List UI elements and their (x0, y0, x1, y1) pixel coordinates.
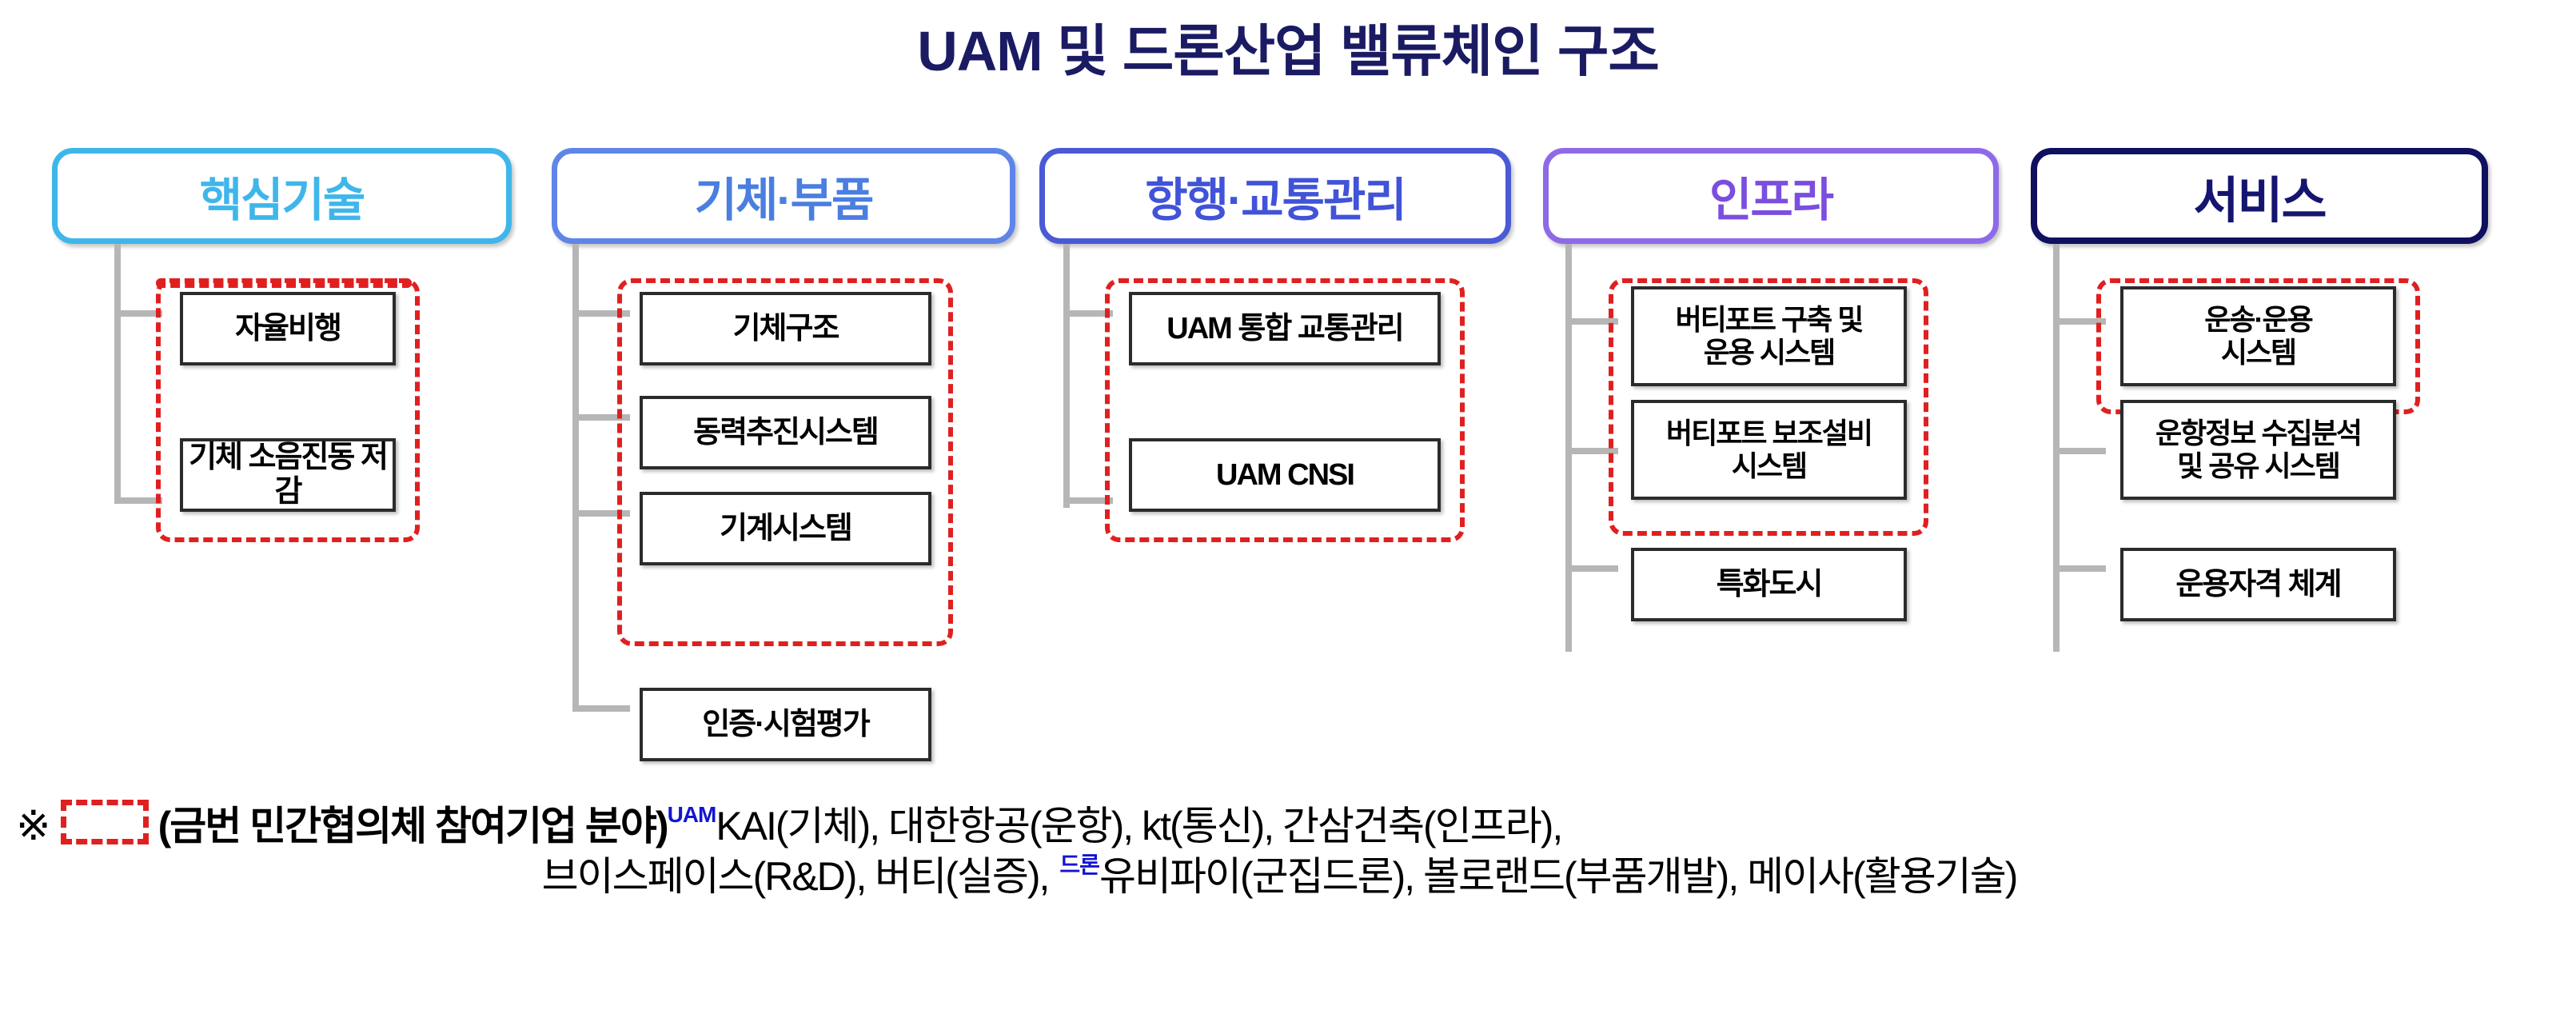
item-box[interactable]: 운송·운용 시스템 (2120, 286, 2396, 386)
footnote-line-2: 브이스페이스(R&D), 버티(실증),드론유비파이(군집드론), 볼로랜드(부… (16, 852, 2566, 901)
item-label: 버티포트 보조설비 시스템 (1666, 417, 1872, 482)
column-header-navigation-traffic-management[interactable]: 항행·교통관리 (1039, 148, 1511, 244)
page-title: UAM 및 드론산업 밸류체인 구조 (0, 6, 2576, 87)
tree-branch (1063, 497, 1113, 504)
tree-branch (1063, 310, 1113, 317)
superscript-uam: UAM (668, 802, 716, 827)
item-box[interactable]: 인증·시험평가 (640, 688, 931, 761)
tree-branch (114, 310, 162, 317)
item-box[interactable]: UAM CNSI (1129, 438, 1441, 512)
tree-branch (1565, 318, 1618, 325)
item-box[interactable]: 기계시스템 (640, 492, 931, 565)
item-label: 기체 소음진동 저감 (188, 441, 388, 509)
item-box[interactable]: 버티포트 구축 및 운용 시스템 (1631, 286, 1907, 386)
footnote: ※(금번 민간협의체 참여기업 분야)UAMKAI(기체), 대한항공(운항),… (16, 800, 2566, 901)
item-label: 특화도시 (1717, 568, 1822, 602)
tree-branch (572, 414, 630, 421)
footnote-line-1-text: KAI(기체), 대한항공(운항), kt(통신), 간삼건축(인프라), (716, 804, 1561, 848)
item-label: UAM CNSI (1216, 458, 1354, 493)
footnote-line-2-prefix: 브이스페이스(R&D), 버티(실증), (542, 854, 1049, 899)
column-header-service[interactable]: 서비스 (2031, 148, 2488, 244)
item-label: 동력추진시스템 (693, 416, 878, 450)
tree-branch (114, 497, 162, 504)
footnote-line-2-text: 유비파이(군집드론), 볼로랜드(부품개발), 메이사(활용기술) (1099, 854, 2016, 899)
tree-branch (572, 310, 630, 317)
column-header-infrastructure[interactable]: 인프라 (1543, 148, 1999, 244)
legend-caption: (금번 민간협의체 참여기업 분야) (158, 804, 668, 848)
item-box[interactable]: 기체구조 (640, 292, 931, 365)
tree-branch (2053, 448, 2106, 454)
tree-trunk (114, 244, 121, 504)
column-header-label: 핵심기술 (200, 162, 364, 230)
column-header-label: 인프라 (1709, 162, 1832, 230)
column-header-airframe-parts[interactable]: 기체·부품 (552, 148, 1015, 244)
item-label: 운송·운용 시스템 (2204, 304, 2311, 369)
column-header-label: 항행·교통관리 (1145, 162, 1405, 230)
item-label: 운용자격 체계 (2175, 568, 2340, 602)
item-box[interactable]: 특화도시 (1631, 548, 1907, 621)
tree-branch (1565, 565, 1618, 572)
item-label: 자율비행 (235, 312, 341, 346)
item-box[interactable]: 운용자격 체계 (2120, 548, 2396, 621)
item-box[interactable]: 운항정보 수집분석 및 공유 시스템 (2120, 400, 2396, 500)
column-header-label: 기체·부품 (695, 162, 873, 230)
item-label: 인증·시험평가 (702, 708, 868, 742)
tree-branch (2053, 565, 2106, 572)
tree-trunk (1063, 244, 1070, 508)
superscript-drone: 드론 (1059, 852, 1099, 877)
value-chain-diagram: 핵심기술 자율비행 기체 소음진동 저감 기체·부품 기체구조 동력추진시스템 (0, 136, 2576, 792)
tree-branch (572, 705, 630, 712)
item-label: 버티포트 구축 및 운용 시스템 (1676, 304, 1863, 369)
reference-mark: ※ (16, 803, 50, 849)
highlight-group (156, 278, 412, 288)
item-label: UAM 통합 교통관리 (1166, 312, 1402, 346)
item-box[interactable]: 동력추진시스템 (640, 396, 931, 469)
column-header-label: 서비스 (2193, 160, 2325, 232)
item-label: 기계시스템 (720, 512, 851, 546)
tree-branch (572, 510, 630, 517)
tree-branch (2053, 318, 2106, 325)
item-label: 운항정보 수집분석 및 공유 시스템 (2155, 417, 2361, 482)
column-header-core-technology[interactable]: 핵심기술 (52, 148, 512, 244)
item-box[interactable]: 자율비행 (180, 292, 396, 365)
item-box[interactable]: 기체 소음진동 저감 (180, 438, 396, 512)
item-box[interactable]: 버티포트 보조설비 시스템 (1631, 400, 1907, 500)
footnote-line-1: ※(금번 민간협의체 참여기업 분야)UAMKAI(기체), 대한항공(운항),… (16, 800, 2566, 852)
tree-branch (1565, 448, 1618, 454)
item-box[interactable]: UAM 통합 교통관리 (1129, 292, 1441, 365)
legend-dashed-chip (61, 800, 149, 844)
item-label: 기체구조 (733, 312, 839, 346)
